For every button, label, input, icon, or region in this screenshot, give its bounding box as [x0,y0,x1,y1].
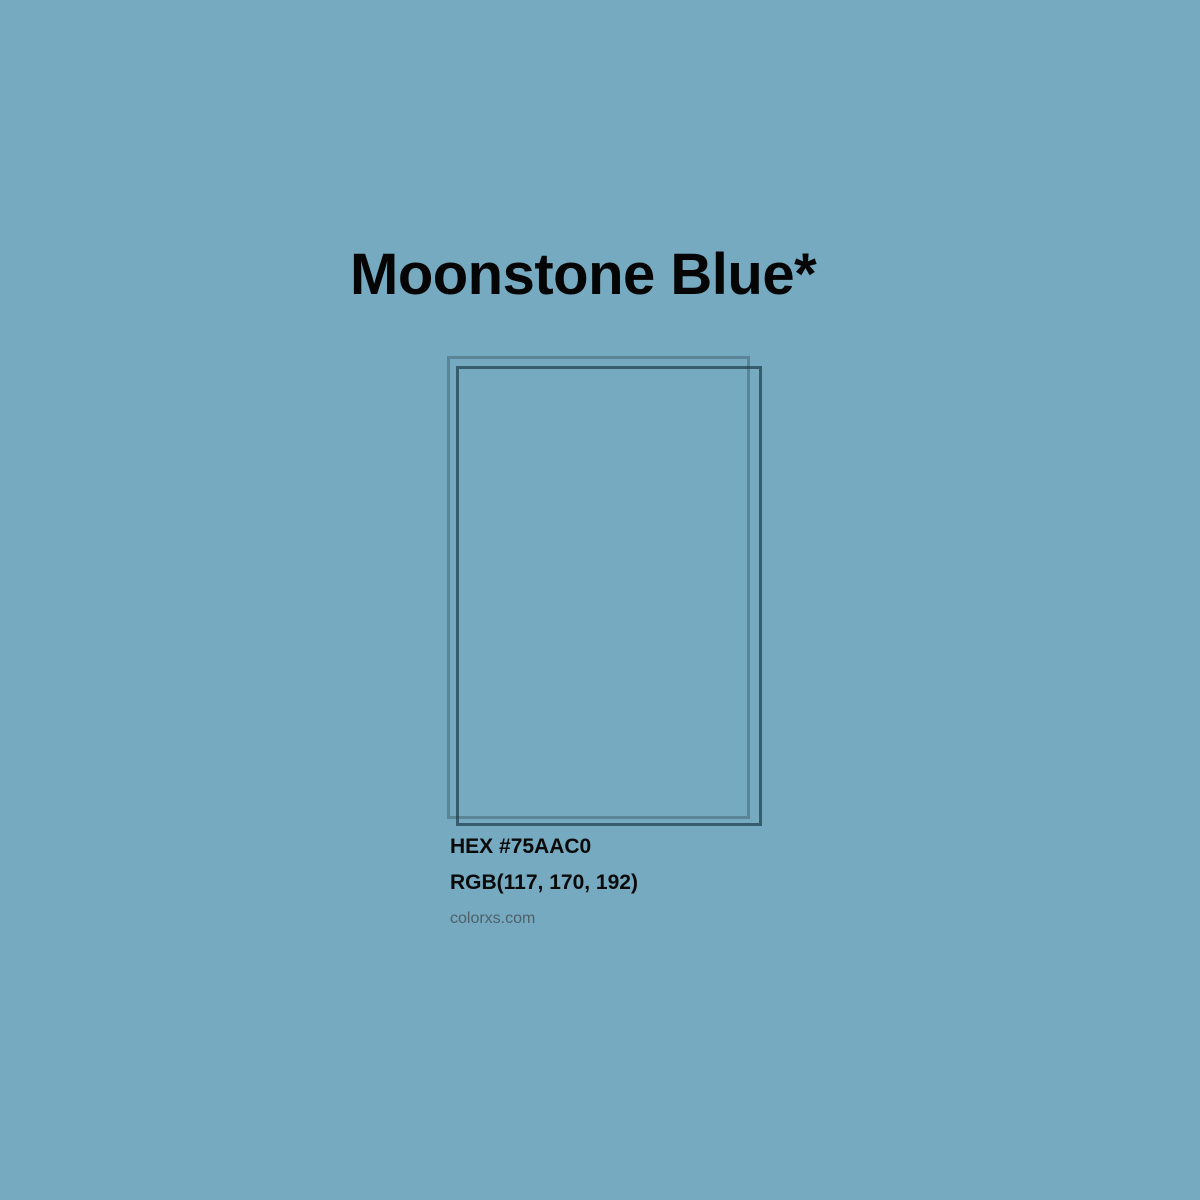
color-swatch-page: Moonstone Blue* HEX #75AAC0 RGB(117, 170… [0,0,1200,1200]
site-credit-label: colorxs.com [450,911,870,927]
swatch-frame-front [456,366,762,826]
swatch-preview [0,0,1200,1200]
page-title: Moonstone Blue* [350,245,816,306]
rgb-value-label: RGB(117, 170, 192) [450,872,870,893]
hex-value-label: HEX #75AAC0 [450,836,870,857]
color-info: HEX #75AAC0 RGB(117, 170, 192) colorxs.c… [450,836,870,927]
swatch-frame-back [447,356,750,819]
